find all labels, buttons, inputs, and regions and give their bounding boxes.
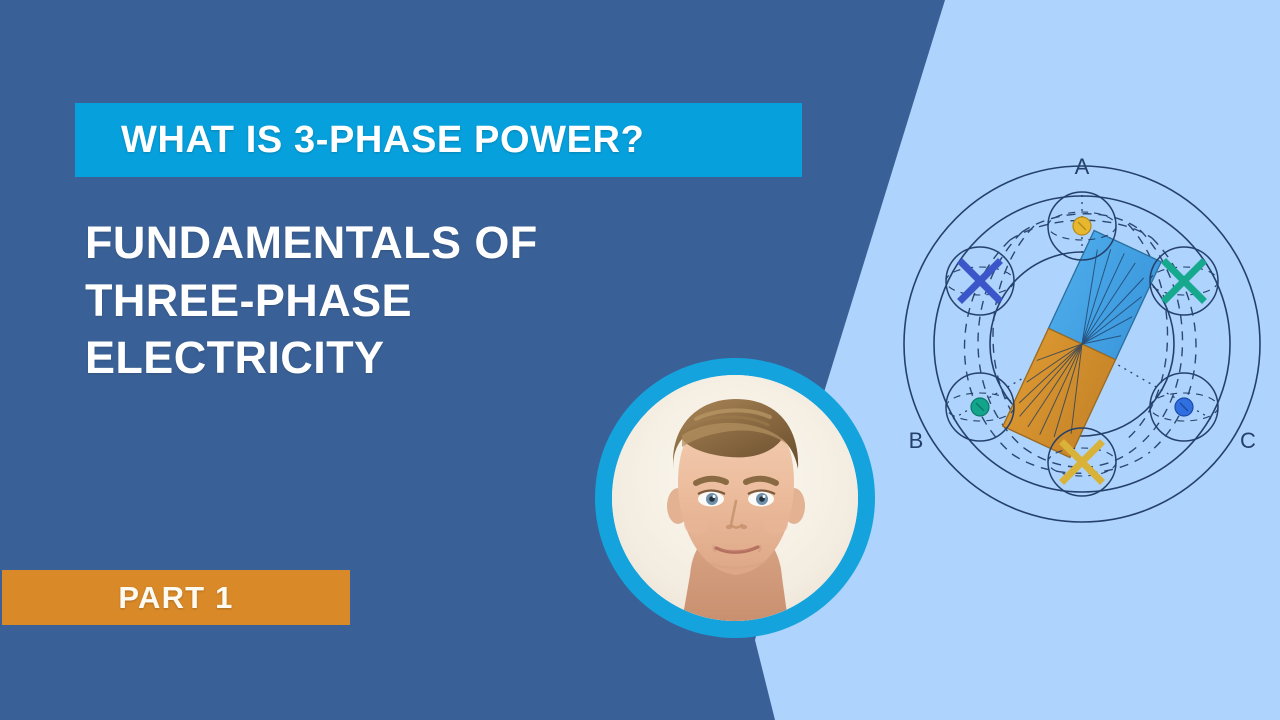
three-phase-motor-diagram: A B C [890, 148, 1274, 532]
title-banner: WHAT IS 3-PHASE POWER? [75, 103, 802, 177]
headline-line-2: THREE-PHASE [85, 272, 725, 330]
part-badge: PART 1 [2, 570, 350, 625]
coil-b-out [946, 247, 1014, 315]
headline-line-1: FUNDAMENTALS OF [85, 214, 725, 272]
coil-b-in [946, 373, 1014, 441]
coil-c-in [1150, 373, 1218, 441]
avatar-photo-clip [612, 375, 858, 621]
avatar [595, 358, 875, 638]
phase-label-b: B [909, 428, 924, 453]
title-banner-label: WHAT IS 3-PHASE POWER? [121, 119, 644, 162]
phase-label-c: C [1240, 428, 1256, 453]
page-title: FUNDAMENTALS OF THREE-PHASE ELECTRICITY [85, 214, 725, 387]
coil-a-out [1048, 428, 1116, 496]
slide-root: WHAT IS 3-PHASE POWER? FUNDAMENTALS OF T… [0, 0, 1280, 720]
part-badge-label: PART 1 [118, 580, 233, 616]
phase-label-a: A [1075, 154, 1090, 179]
presenter-headshot-image [612, 375, 858, 621]
rotor-magnet [1003, 230, 1161, 457]
